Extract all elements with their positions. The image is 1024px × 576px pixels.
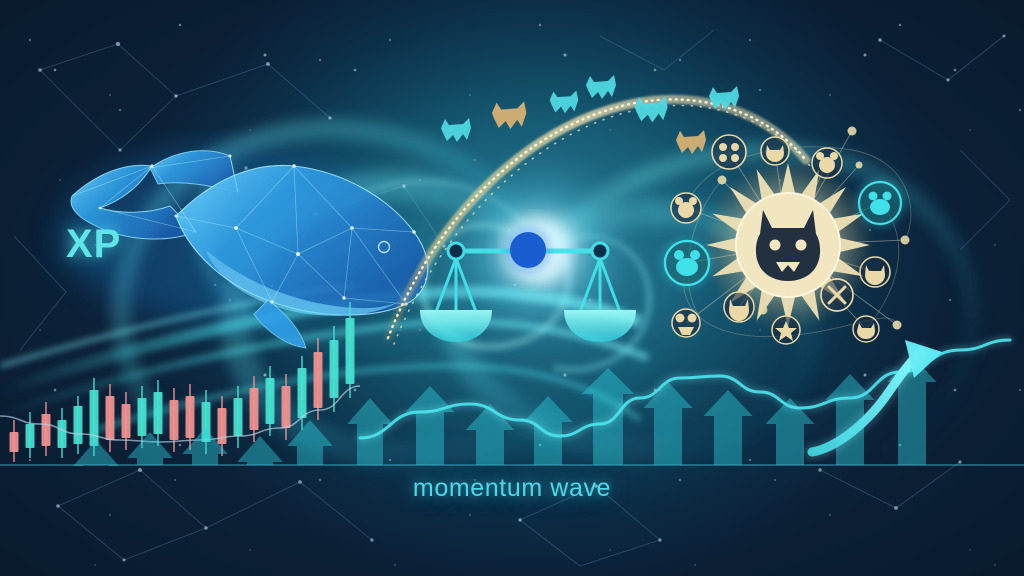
scales-pivot-left (448, 243, 464, 259)
orbit-dot (718, 176, 727, 185)
hub-orbit-rings (684, 147, 911, 337)
candle-body (282, 386, 291, 428)
moving-average-line (0, 386, 360, 442)
token-coin-cluster-a (712, 135, 746, 169)
candle-body (346, 318, 355, 384)
galaxy-core (420, 132, 660, 372)
candle-body (298, 368, 307, 418)
momentum-wave-line (360, 340, 1010, 438)
candle-body (10, 432, 19, 452)
token-frog-glow-right (854, 177, 906, 229)
volume-arrow-bar (287, 420, 333, 465)
candle-body (314, 352, 323, 408)
token-cat-top (761, 137, 789, 165)
scales-pivot-right (592, 243, 608, 259)
candle-body (90, 390, 99, 446)
scales-right-pan (564, 310, 636, 342)
balance-scales (436, 243, 620, 312)
volume-arrow-bar (73, 440, 119, 466)
dog-3 (550, 91, 579, 114)
scene-canvas: XP (0, 0, 1024, 576)
token-frog-glow-left (660, 236, 714, 290)
particle-arc-sparkle (388, 99, 806, 338)
whale-eye (379, 242, 390, 253)
candle-body (330, 340, 339, 398)
token-cat-lower-right (853, 316, 879, 342)
scales-left-pan (420, 310, 492, 342)
token-bear-upper-right (812, 148, 842, 178)
hub-orbit-dots (718, 127, 910, 330)
volume-arrow-bar (127, 432, 173, 465)
dog-1 (441, 118, 471, 142)
sun-cat-face-icon (756, 210, 820, 281)
orbit-dot (893, 321, 902, 330)
candle-body (202, 402, 211, 442)
candle-body (58, 420, 67, 448)
whale-energy-ribbons (0, 286, 648, 430)
candle-body (186, 396, 195, 438)
whale-belly (206, 250, 414, 316)
volume-arrow-bar (582, 368, 635, 465)
orbit-dot (856, 162, 863, 169)
candle-body (154, 392, 163, 434)
orbit-dot (848, 127, 857, 136)
candle-body (74, 406, 83, 444)
orbit-dot (901, 236, 910, 245)
volume-arrow-bar (826, 374, 875, 465)
particle-arc-path (388, 99, 806, 338)
volume-arrow-bar (347, 398, 393, 465)
volume-arrow-bars (73, 356, 936, 466)
sun-outer-glow (702, 159, 874, 331)
scales-left-strings (436, 258, 476, 312)
galaxy-inner-swirl (336, 181, 649, 369)
particle-arc-sparkle-2 (394, 105, 810, 344)
candle-body (218, 408, 227, 444)
candlesticks (10, 302, 355, 462)
xp-wordmark: XP (66, 222, 121, 267)
candle-body (170, 400, 179, 440)
hub-spokes (686, 131, 905, 330)
dog-6 (676, 130, 706, 154)
volume-arrow-bar (888, 356, 937, 465)
momentum-wave-label: momentum wave (0, 474, 1024, 503)
sun-rays (706, 163, 870, 327)
token-medallions (660, 135, 906, 344)
x-logo-icon (829, 287, 845, 303)
whale-nodes (99, 155, 416, 306)
candle-body (250, 388, 259, 430)
candle-body (26, 424, 35, 448)
volume-arrow-bar (466, 404, 515, 465)
dog-7 (709, 86, 739, 110)
candle-body (106, 396, 115, 440)
dog-2 (492, 102, 527, 130)
whale-figure (71, 151, 428, 348)
whale-tail-upper (150, 151, 238, 192)
scales-right-strings (580, 258, 620, 312)
candle-body (266, 378, 275, 424)
rising-arrow (812, 340, 942, 452)
token-star-bottom (772, 316, 800, 344)
star-icon (775, 321, 797, 341)
scales-fulcrum (510, 232, 546, 268)
volume-arrow-bar (524, 396, 573, 465)
candle-body (122, 404, 131, 438)
whale-fin (254, 300, 306, 348)
whale-wireframe (72, 156, 414, 304)
token-x-logo (821, 279, 853, 311)
sun-disc (736, 193, 840, 297)
orbit-dot (759, 306, 768, 315)
token-dog-bottom-left (724, 292, 754, 322)
dog-4 (586, 75, 616, 99)
dog-group (441, 75, 739, 154)
galaxy-core-hot (504, 216, 572, 284)
volume-arrow-bar (704, 390, 753, 465)
momentum-wave-glow (360, 340, 1010, 438)
token-cat-right (860, 257, 890, 287)
candle-body (42, 414, 51, 446)
token-bear-left (671, 193, 701, 223)
volume-arrow-bar (766, 398, 815, 465)
candle-body (234, 398, 243, 436)
volume-arrow-bar (182, 428, 228, 465)
dog-5 (635, 96, 668, 122)
galaxy-halo (110, 0, 970, 552)
scales-fulcrum-glow (504, 226, 552, 274)
whale-body (176, 165, 428, 315)
volume-arrow-bar (237, 436, 283, 465)
token-owl-bottom-left (672, 309, 700, 337)
volume-arrow-bar (644, 382, 693, 465)
galaxy-spiral-arms (121, 129, 972, 456)
volume-arrow-bar (406, 386, 455, 465)
candle-body (138, 398, 147, 436)
